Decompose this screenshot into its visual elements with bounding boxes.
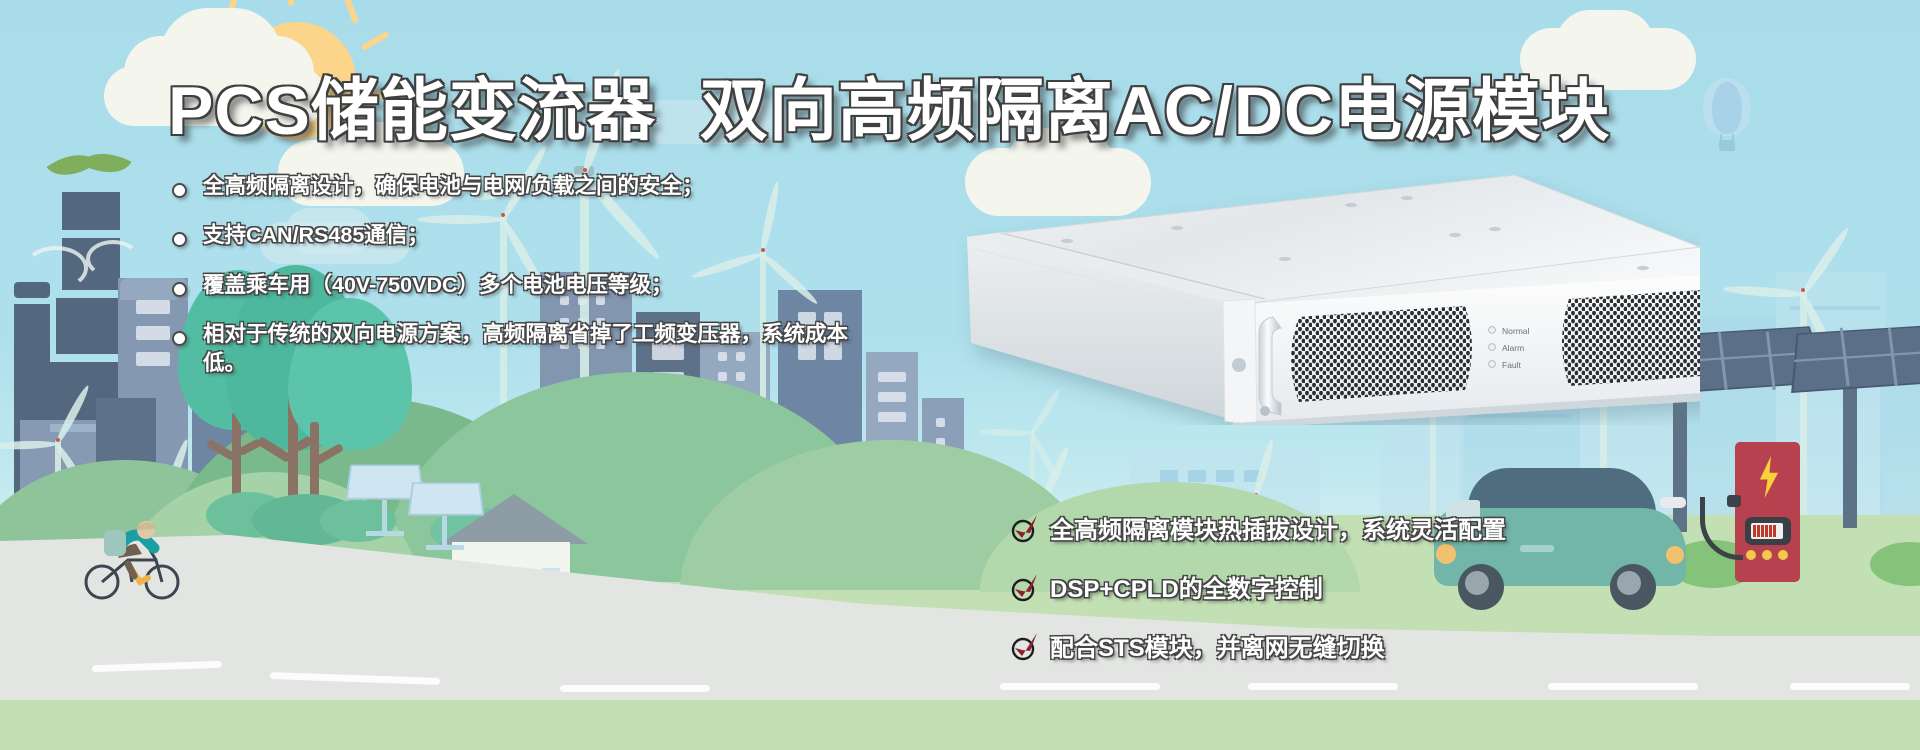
bullet-dot-icon [172, 331, 187, 346]
bullet-dot-icon [172, 282, 187, 297]
bullet-text: 支持CAN/RS485通信； [203, 221, 429, 249]
led-label-normal: Normal [1502, 326, 1530, 336]
led-label-fault: Fault [1502, 360, 1522, 370]
check-text: 全高频隔离模块热插拔设计，系统灵活配置 [1050, 510, 1506, 545]
bullet-text: 覆盖乘车用（40V-750VDC）多个电池电压等级； [203, 271, 673, 299]
page-title: PCS储能变流器双向高频隔离AC/DC电源模块 [168, 66, 1348, 156]
check-mark-icon [1010, 572, 1040, 602]
battery-icon [1751, 523, 1783, 539]
title-sub: 双向高频隔离AC/DC电源模块 [700, 73, 1610, 149]
check-text: 配合STS模块，并离网无缝切换 [1050, 628, 1385, 663]
product-banner: Normal Alarm Fault PCS储能变流器双向高频隔离AC/DC电源… [0, 0, 1920, 750]
check-text: DSP+CPLD的全数字控制 [1050, 569, 1323, 604]
bullet-text: 全高频隔离设计，确保电池与电网/负载之间的安全； [203, 172, 703, 200]
bullet-text: 相对于传统的双向电源方案，高频隔离省掉了工频变压器，系统成本低。 [203, 320, 863, 377]
title-main: PCS储能变流器 [168, 73, 656, 149]
check-mark-icon [1010, 631, 1040, 661]
bullet-dot-icon [172, 232, 187, 247]
list-item: 覆盖乘车用（40V-750VDC）多个电池电压等级； [172, 271, 932, 299]
list-item: 相对于传统的双向电源方案，高频隔离省掉了工频变压器，系统成本低。 [172, 320, 932, 377]
bullet-dot-icon [172, 183, 187, 198]
led-label-alarm: Alarm [1502, 343, 1524, 353]
highlight-check-list: 全高频隔离模块热插拔设计，系统灵活配置 DSP+CPLD的全数字控制 配合STS… [1010, 510, 1710, 663]
list-item: DSP+CPLD的全数字控制 [1010, 569, 1710, 604]
list-item: 全高频隔离设计，确保电池与电网/负载之间的安全； [172, 172, 932, 200]
cyclist-icon [84, 516, 194, 602]
list-item: 全高频隔离模块热插拔设计，系统灵活配置 [1010, 510, 1710, 545]
pcs-power-module: Normal Alarm Fault [955, 175, 1700, 425]
list-item: 配合STS模块，并离网无缝切换 [1010, 628, 1710, 663]
feature-bullet-list: 全高频隔离设计，确保电池与电网/负载之间的安全； 支持CAN/RS485通信； … [172, 172, 932, 377]
list-item: 支持CAN/RS485通信； [172, 221, 932, 249]
check-mark-icon [1010, 513, 1040, 543]
